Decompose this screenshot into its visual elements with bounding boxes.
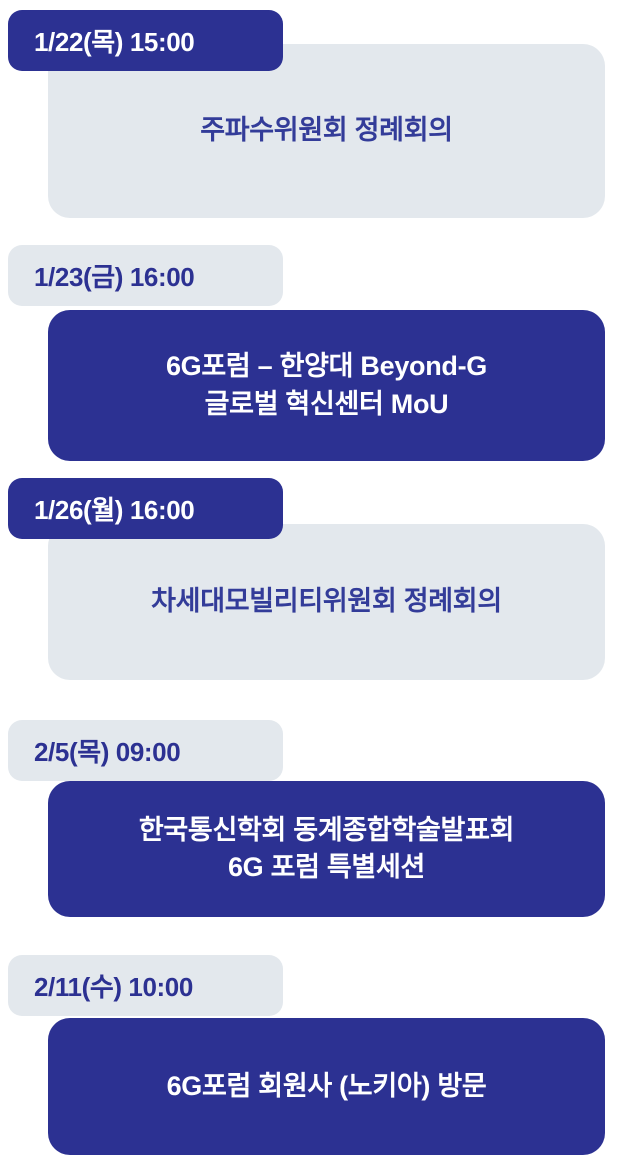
date-badge[interactable]: 2/5(목) 09:00 xyxy=(8,720,283,781)
event-title: 차세대모빌리티위원회 정례회의 xyxy=(151,583,502,620)
date-badge-label: 1/23(금) 16:00 xyxy=(34,257,194,294)
date-badge-label: 2/11(수) 10:00 xyxy=(34,967,193,1004)
event-card[interactable]: 차세대모빌리티위원회 정례회의 xyxy=(48,524,605,680)
schedule-item[interactable]: 주파수위원회 정례회의 1/22(목) 15:00 xyxy=(0,0,624,228)
event-card[interactable]: 6G포럼 회원사 (노키아) 방문 xyxy=(48,1018,605,1155)
event-title: 6G포럼 – 한양대 Beyond-G 글로벌 혁신센터 MoU xyxy=(166,348,487,423)
date-badge[interactable]: 1/26(월) 16:00 xyxy=(8,478,283,539)
event-card[interactable]: 한국통신학회 동계종합학술발표회 6G 포럼 특별세션 xyxy=(48,781,605,917)
date-badge-label: 2/5(목) 09:00 xyxy=(34,732,180,769)
date-badge[interactable]: 1/22(목) 15:00 xyxy=(8,10,283,71)
date-badge[interactable]: 2/11(수) 10:00 xyxy=(8,955,283,1016)
schedule-item[interactable]: 6G포럼 – 한양대 Beyond-G 글로벌 혁신센터 MoU 1/23(금)… xyxy=(0,245,624,461)
schedule-list: 주파수위원회 정례회의 1/22(목) 15:00 6G포럼 – 한양대 Bey… xyxy=(0,0,624,1164)
schedule-item[interactable]: 6G포럼 회원사 (노키아) 방문 2/11(수) 10:00 xyxy=(0,955,624,1155)
schedule-item[interactable]: 차세대모빌리티위원회 정례회의 1/26(월) 16:00 xyxy=(0,478,624,680)
date-badge-label: 1/26(월) 16:00 xyxy=(34,490,194,527)
schedule-item[interactable]: 한국통신학회 동계종합학술발표회 6G 포럼 특별세션 2/5(목) 09:00 xyxy=(0,720,624,917)
event-title: 주파수위원회 정례회의 xyxy=(200,112,453,149)
date-badge-label: 1/22(목) 15:00 xyxy=(34,22,194,59)
date-badge[interactable]: 1/23(금) 16:00 xyxy=(8,245,283,306)
event-title: 6G포럼 회원사 (노키아) 방문 xyxy=(167,1068,487,1105)
event-title: 한국통신학회 동계종합학술발표회 6G 포럼 특별세션 xyxy=(139,812,514,887)
event-card[interactable]: 6G포럼 – 한양대 Beyond-G 글로벌 혁신센터 MoU xyxy=(48,310,605,461)
